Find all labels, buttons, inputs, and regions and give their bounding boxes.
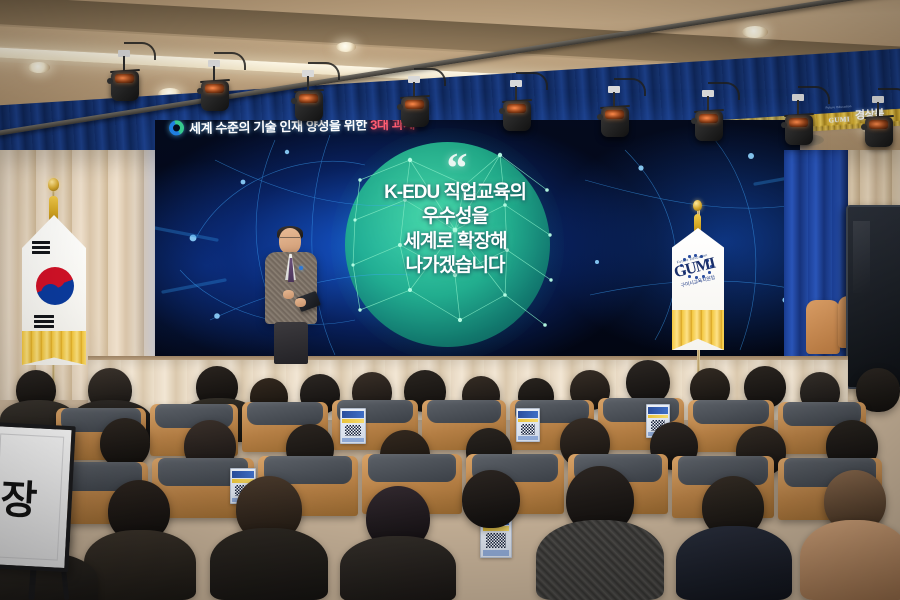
audience-shoulders (676, 526, 792, 600)
audience-shoulders (84, 530, 196, 600)
quote-line-3: 세계로 확장해 (305, 230, 605, 254)
floor-standing-sign: 장 (0, 422, 76, 572)
audience-shoulders (340, 536, 456, 600)
ceiling-downlight (742, 26, 768, 38)
seat-qr-placard (340, 408, 366, 444)
lapel-pin-icon (299, 266, 303, 270)
quote-mark-icon: “ (305, 158, 605, 181)
auditorium-photo: Future Education GUMI 경상북 (0, 0, 900, 600)
slide-title-main: 세계 수준의 기술 인재 양성을 위한 (189, 120, 367, 136)
seat-qr-placard (516, 408, 540, 442)
stage-chair (806, 300, 840, 354)
quote-line-1: K-EDU 직업교육의 (305, 181, 605, 205)
audience-head (100, 418, 150, 468)
speaker-presenter (262, 228, 320, 362)
vertical-digital-signage[interactable] (846, 205, 900, 389)
slide-quote: “ K-EDU 직업교육의 우수성을 세계로 확장해 나가겠습니다 (305, 158, 605, 278)
quote-line-2: 우수성을 (305, 205, 605, 229)
audience-shoulders (800, 520, 900, 600)
audience-shoulders (536, 520, 664, 600)
ceiling-downlight (336, 42, 356, 52)
gumi-emblem: Future Education GUMI 구미시교육지원청 (672, 251, 724, 316)
flag-finial-icon (48, 178, 59, 191)
banner-logo-main: GUMI (828, 115, 850, 124)
quote-line-4: 나가겠습니다 (305, 254, 605, 278)
ceiling-downlight (28, 62, 50, 73)
audience-head (462, 470, 520, 528)
banner-logo-top: Future Education (825, 104, 851, 110)
gumi-education-flag: Future Education GUMI 구미시교육지원청 (672, 228, 724, 350)
audience-shoulders (210, 528, 328, 600)
circular-g-logo-icon (169, 120, 184, 135)
flag-finial-icon (693, 200, 702, 211)
taeguk-symbol-icon (36, 267, 74, 305)
